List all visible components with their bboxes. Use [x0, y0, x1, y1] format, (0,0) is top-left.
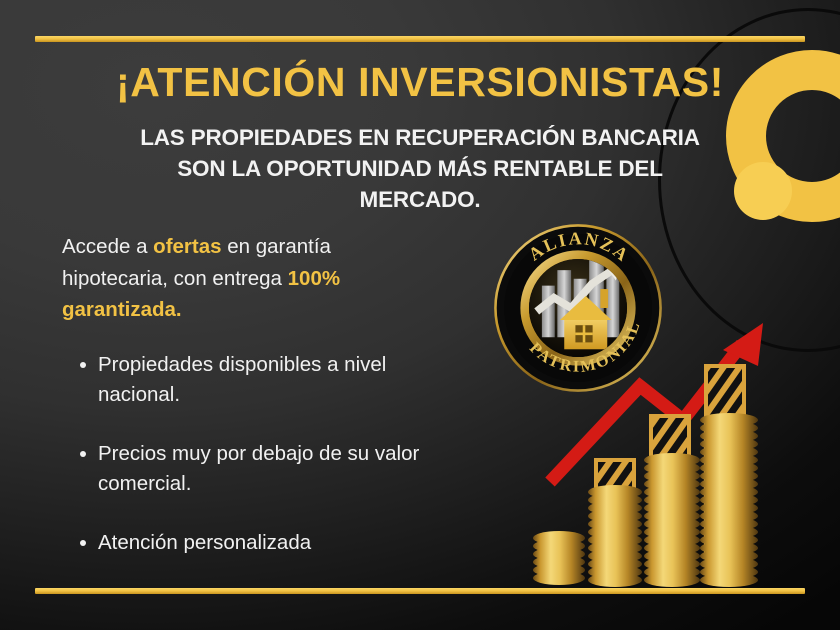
coin-stack-3	[644, 453, 700, 587]
list-item: Precios muy por debajo de su valor comer…	[62, 439, 462, 499]
coin-stack-1	[533, 531, 585, 585]
coin-stack-2	[588, 485, 642, 587]
list-item: Atención personalizada	[62, 528, 462, 558]
top-divider-rule	[35, 36, 805, 42]
lead-paragraph: Accede a ofertas en garantía hipotecaria…	[62, 231, 434, 326]
poster-canvas: ¡ATENCIÓN INVERSIONISTAS! LAS PROPIEDADE…	[0, 0, 840, 630]
lead-highlight-ofertas: ofertas	[153, 235, 221, 258]
alianza-patrimonial-logo: ALIANZA PATRIMONIAL	[492, 222, 664, 394]
benefits-list: Propiedades disponibles a nivel nacional…	[62, 350, 462, 587]
lead-text-part1: Accede a	[62, 235, 153, 258]
decorative-dot-icon	[734, 162, 792, 220]
coin-stack-4	[700, 413, 758, 587]
page-title: ¡ATENCIÓN INVERSIONISTAS!	[0, 59, 840, 106]
page-subtitle: LAS PROPIEDADES EN RECUPERACIÓN BANCARIA…	[118, 122, 722, 215]
list-item: Propiedades disponibles a nivel nacional…	[62, 350, 462, 410]
